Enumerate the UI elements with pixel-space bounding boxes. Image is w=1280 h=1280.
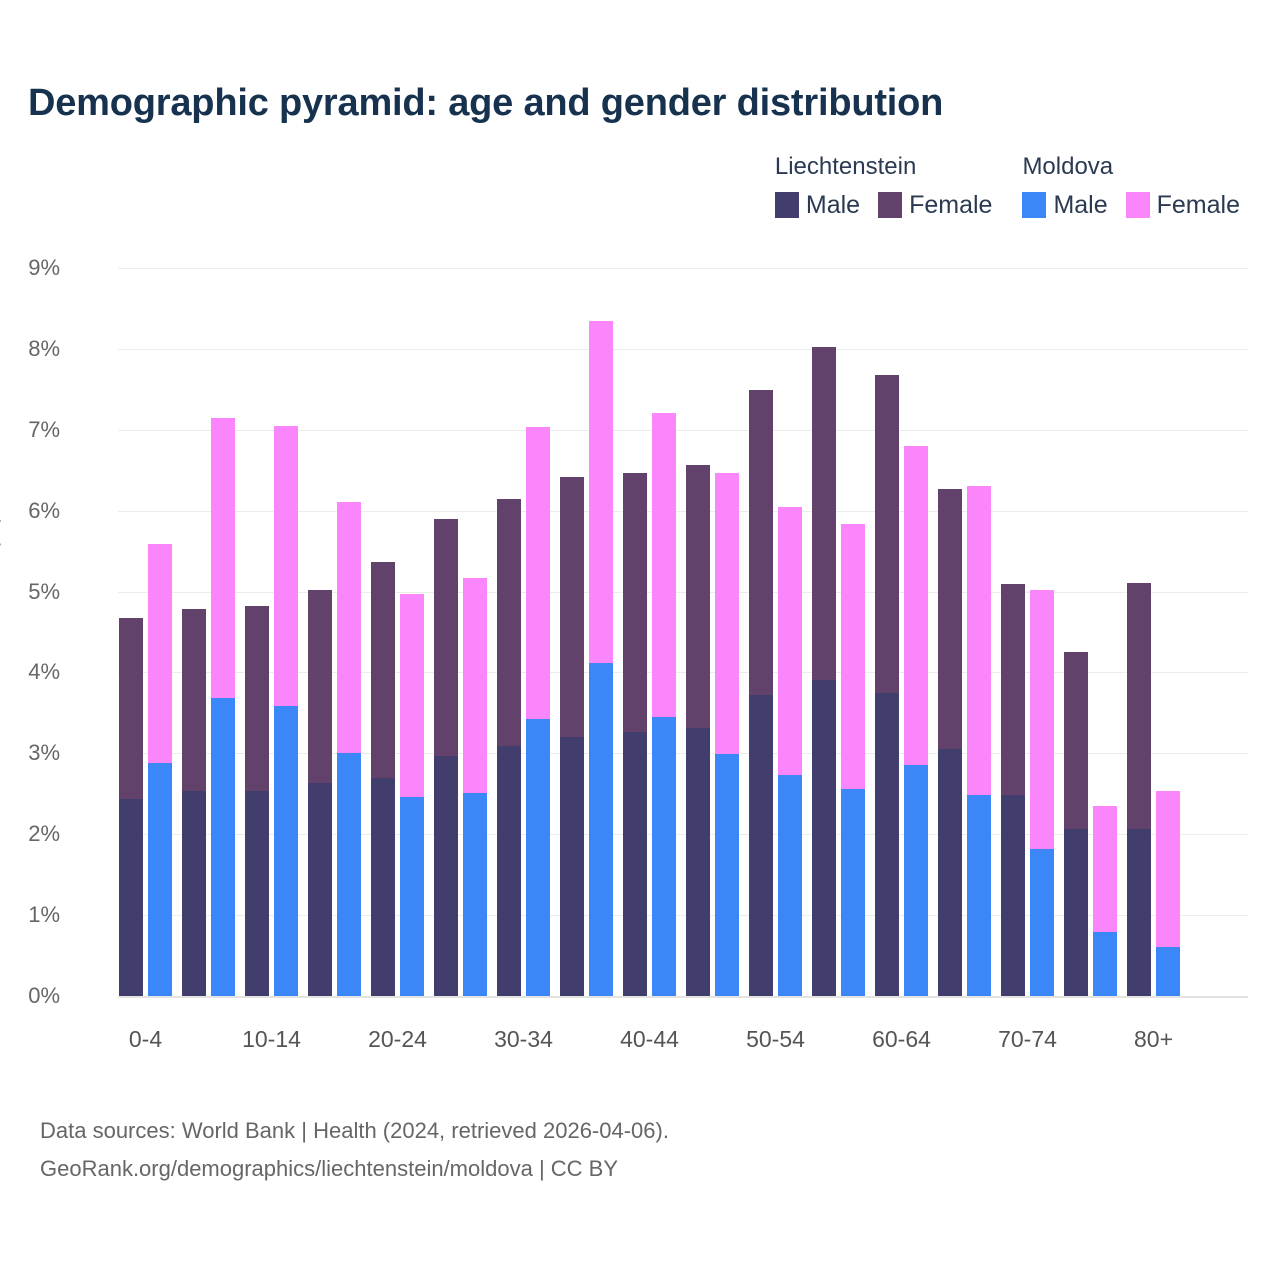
bar-group-50-54 xyxy=(749,268,802,996)
bar-liechtenstein-80+[interactable] xyxy=(1127,583,1151,996)
bar-moldova-10-14-male-segment xyxy=(274,706,298,996)
bar-liechtenstein-55-59[interactable] xyxy=(812,347,836,996)
bar-moldova-10-14[interactable] xyxy=(274,426,298,996)
x-axis-line xyxy=(118,996,1248,998)
bar-liechtenstein-70-74[interactable] xyxy=(1001,584,1025,996)
bar-moldova-55-59[interactable] xyxy=(841,524,865,996)
y-axis-tick-label: 0% xyxy=(0,983,60,1009)
bar-moldova-15-19-female-segment xyxy=(337,502,361,753)
bar-liechtenstein-30-34-female-segment xyxy=(497,499,521,746)
y-axis-tick-label: 5% xyxy=(0,579,60,605)
x-axis-tick-label: 50-54 xyxy=(746,1026,805,1053)
bar-group-0-4 xyxy=(119,268,172,996)
bar-liechtenstein-60-64-female-segment xyxy=(875,375,899,694)
bar-liechtenstein-65-69-male-segment xyxy=(938,749,962,996)
bar-moldova-55-59-male-segment xyxy=(841,789,865,996)
bar-group-15-19 xyxy=(308,268,361,996)
bar-liechtenstein-50-54-female-segment xyxy=(749,390,773,695)
x-axis-tick-label: 20-24 xyxy=(368,1026,427,1053)
bar-liechtenstein-80+-male-segment xyxy=(1127,829,1151,996)
bar-moldova-75-79[interactable] xyxy=(1093,806,1117,996)
bar-group-35-39 xyxy=(560,268,613,996)
bar-liechtenstein-10-14[interactable] xyxy=(245,606,269,996)
bar-group-45-49 xyxy=(686,268,739,996)
bar-liechtenstein-45-49[interactable] xyxy=(686,465,710,996)
bar-moldova-80+[interactable] xyxy=(1156,791,1180,996)
x-axis-tick-label: 60-64 xyxy=(872,1026,931,1053)
bar-moldova-25-29-female-segment xyxy=(463,578,487,793)
bar-moldova-30-34-male-segment xyxy=(526,719,550,996)
bar-liechtenstein-0-4-female-segment xyxy=(119,618,143,798)
x-axis-tick-label: 10-14 xyxy=(242,1026,301,1053)
bar-liechtenstein-15-19-male-segment xyxy=(308,783,332,996)
bar-liechtenstein-65-69[interactable] xyxy=(938,489,962,996)
x-axis-tick-label: 40-44 xyxy=(620,1026,679,1053)
bar-liechtenstein-20-24[interactable] xyxy=(371,562,395,996)
bar-moldova-45-49-male-segment xyxy=(715,754,739,996)
bar-liechtenstein-0-4[interactable] xyxy=(119,618,143,996)
y-axis-tick-label: 1% xyxy=(0,902,60,928)
bar-moldova-80+-male-segment xyxy=(1156,947,1180,996)
x-axis-tick-label: 0-4 xyxy=(129,1026,162,1053)
footer-line-1: Data sources: World Bank | Health (2024,… xyxy=(40,1112,669,1150)
bar-moldova-40-44[interactable] xyxy=(652,413,676,996)
y-axis-tick-label: 4% xyxy=(0,659,60,685)
x-axis-tick-label: 70-74 xyxy=(998,1026,1057,1053)
bar-liechtenstein-55-59-male-segment xyxy=(812,680,836,996)
bar-moldova-20-24[interactable] xyxy=(400,594,424,996)
bar-moldova-65-69[interactable] xyxy=(967,486,991,996)
bar-liechtenstein-15-19[interactable] xyxy=(308,590,332,996)
bar-liechtenstein-60-64[interactable] xyxy=(875,375,899,996)
x-axis-tick-label: 80+ xyxy=(1134,1026,1173,1053)
bar-group-55-59 xyxy=(812,268,865,996)
bar-moldova-10-14-female-segment xyxy=(274,426,298,707)
bar-moldova-70-74-female-segment xyxy=(1030,590,1054,849)
y-axis-tick-label: 2% xyxy=(0,821,60,847)
bar-moldova-0-4[interactable] xyxy=(148,544,172,996)
bar-liechtenstein-75-79[interactable] xyxy=(1064,652,1088,996)
bar-moldova-60-64-female-segment xyxy=(904,446,928,766)
bar-moldova-35-39-male-segment xyxy=(589,663,613,996)
y-axis-tick-label: 9% xyxy=(0,255,60,281)
bar-group-30-34 xyxy=(497,268,550,996)
bar-moldova-25-29[interactable] xyxy=(463,578,487,996)
bar-moldova-60-64[interactable] xyxy=(904,446,928,996)
bar-moldova-45-49-female-segment xyxy=(715,473,739,754)
bar-liechtenstein-40-44-female-segment xyxy=(623,473,647,733)
bar-liechtenstein-50-54-male-segment xyxy=(749,695,773,996)
bar-liechtenstein-5-9-male-segment xyxy=(182,791,206,996)
bar-liechtenstein-45-49-male-segment xyxy=(686,728,710,996)
bar-moldova-40-44-male-segment xyxy=(652,717,676,996)
bar-moldova-5-9[interactable] xyxy=(211,418,235,996)
bar-liechtenstein-25-29-female-segment xyxy=(434,519,458,756)
bar-liechtenstein-40-44-male-segment xyxy=(623,732,647,996)
bar-moldova-50-54[interactable] xyxy=(778,507,802,996)
plot-wrapper: Share of population 0%1%2%3%4%5%6%7%8%9%… xyxy=(0,0,1280,1280)
plot-area: 0%1%2%3%4%5%6%7%8%9% xyxy=(118,268,1248,996)
bar-moldova-5-9-male-segment xyxy=(211,698,235,996)
bar-liechtenstein-25-29[interactable] xyxy=(434,519,458,996)
bar-moldova-70-74[interactable] xyxy=(1030,590,1054,996)
bar-moldova-65-69-female-segment xyxy=(967,486,991,795)
bar-liechtenstein-35-39-female-segment xyxy=(560,477,584,737)
bar-moldova-20-24-female-segment xyxy=(400,594,424,797)
bar-group-10-14 xyxy=(245,268,298,996)
bar-liechtenstein-20-24-male-segment xyxy=(371,778,395,996)
bar-liechtenstein-25-29-male-segment xyxy=(434,756,458,996)
bar-liechtenstein-30-34-male-segment xyxy=(497,746,521,996)
y-axis-tick-label: 6% xyxy=(0,498,60,524)
y-axis-tick-label: 3% xyxy=(0,740,60,766)
bar-moldova-30-34-female-segment xyxy=(526,427,550,719)
x-axis-tick-label: 30-34 xyxy=(494,1026,553,1053)
bar-group-40-44 xyxy=(623,268,676,996)
bar-group-65-69 xyxy=(938,268,991,996)
bar-moldova-35-39-female-segment xyxy=(589,321,613,663)
bar-group-75-79 xyxy=(1064,268,1117,996)
bar-liechtenstein-10-14-female-segment xyxy=(245,606,269,790)
bar-moldova-30-34[interactable] xyxy=(526,427,550,996)
bar-moldova-0-4-female-segment xyxy=(148,544,172,763)
bar-moldova-75-79-female-segment xyxy=(1093,806,1117,932)
bar-liechtenstein-0-4-male-segment xyxy=(119,799,143,996)
bar-liechtenstein-45-49-female-segment xyxy=(686,465,710,729)
bar-group-60-64 xyxy=(875,268,928,996)
bar-liechtenstein-65-69-female-segment xyxy=(938,489,962,749)
bar-moldova-20-24-male-segment xyxy=(400,797,424,996)
bar-group-20-24 xyxy=(371,268,424,996)
bar-moldova-0-4-male-segment xyxy=(148,763,172,996)
chart-root: Demographic pyramid: age and gender dist… xyxy=(0,0,1280,1280)
bar-liechtenstein-55-59-female-segment xyxy=(812,347,836,679)
bar-liechtenstein-15-19-female-segment xyxy=(308,590,332,783)
bar-moldova-65-69-male-segment xyxy=(967,795,991,996)
bar-liechtenstein-80+-female-segment xyxy=(1127,583,1151,829)
bar-group-80+ xyxy=(1127,268,1180,996)
bar-liechtenstein-70-74-male-segment xyxy=(1001,795,1025,996)
bar-liechtenstein-5-9-female-segment xyxy=(182,609,206,792)
bar-liechtenstein-35-39[interactable] xyxy=(560,477,584,996)
bar-liechtenstein-35-39-male-segment xyxy=(560,737,584,996)
bar-liechtenstein-10-14-male-segment xyxy=(245,791,269,996)
bar-moldova-5-9-female-segment xyxy=(211,418,235,698)
bar-moldova-15-19[interactable] xyxy=(337,502,361,996)
bar-liechtenstein-40-44[interactable] xyxy=(623,473,647,996)
footer: Data sources: World Bank | Health (2024,… xyxy=(40,1112,669,1188)
bar-liechtenstein-70-74-female-segment xyxy=(1001,584,1025,795)
bar-moldova-40-44-female-segment xyxy=(652,413,676,717)
bar-moldova-45-49[interactable] xyxy=(715,473,739,996)
bar-liechtenstein-50-54[interactable] xyxy=(749,390,773,996)
bar-moldova-50-54-female-segment xyxy=(778,507,802,776)
y-axis-tick-label: 7% xyxy=(0,417,60,443)
bar-moldova-50-54-male-segment xyxy=(778,775,802,996)
bar-moldova-60-64-male-segment xyxy=(904,765,928,996)
bar-liechtenstein-30-34[interactable] xyxy=(497,499,521,996)
bar-moldova-80+-female-segment xyxy=(1156,791,1180,948)
bar-liechtenstein-60-64-male-segment xyxy=(875,693,899,996)
bar-liechtenstein-75-79-male-segment xyxy=(1064,829,1088,996)
bar-liechtenstein-20-24-female-segment xyxy=(371,562,395,777)
footer-line-2: GeoRank.org/demographics/liechtenstein/m… xyxy=(40,1150,669,1188)
bar-liechtenstein-75-79-female-segment xyxy=(1064,652,1088,828)
bar-liechtenstein-5-9[interactable] xyxy=(182,609,206,996)
bar-moldova-75-79-male-segment xyxy=(1093,932,1117,996)
bar-group-25-29 xyxy=(434,268,487,996)
bar-moldova-25-29-male-segment xyxy=(463,793,487,996)
y-axis-title: Share of population xyxy=(0,450,2,632)
y-axis-tick-label: 8% xyxy=(0,336,60,362)
bar-moldova-15-19-male-segment xyxy=(337,753,361,996)
bar-group-5-9 xyxy=(182,268,235,996)
bar-moldova-55-59-female-segment xyxy=(841,524,865,789)
bar-group-70-74 xyxy=(1001,268,1054,996)
bar-moldova-70-74-male-segment xyxy=(1030,849,1054,996)
bar-moldova-35-39[interactable] xyxy=(589,321,613,996)
